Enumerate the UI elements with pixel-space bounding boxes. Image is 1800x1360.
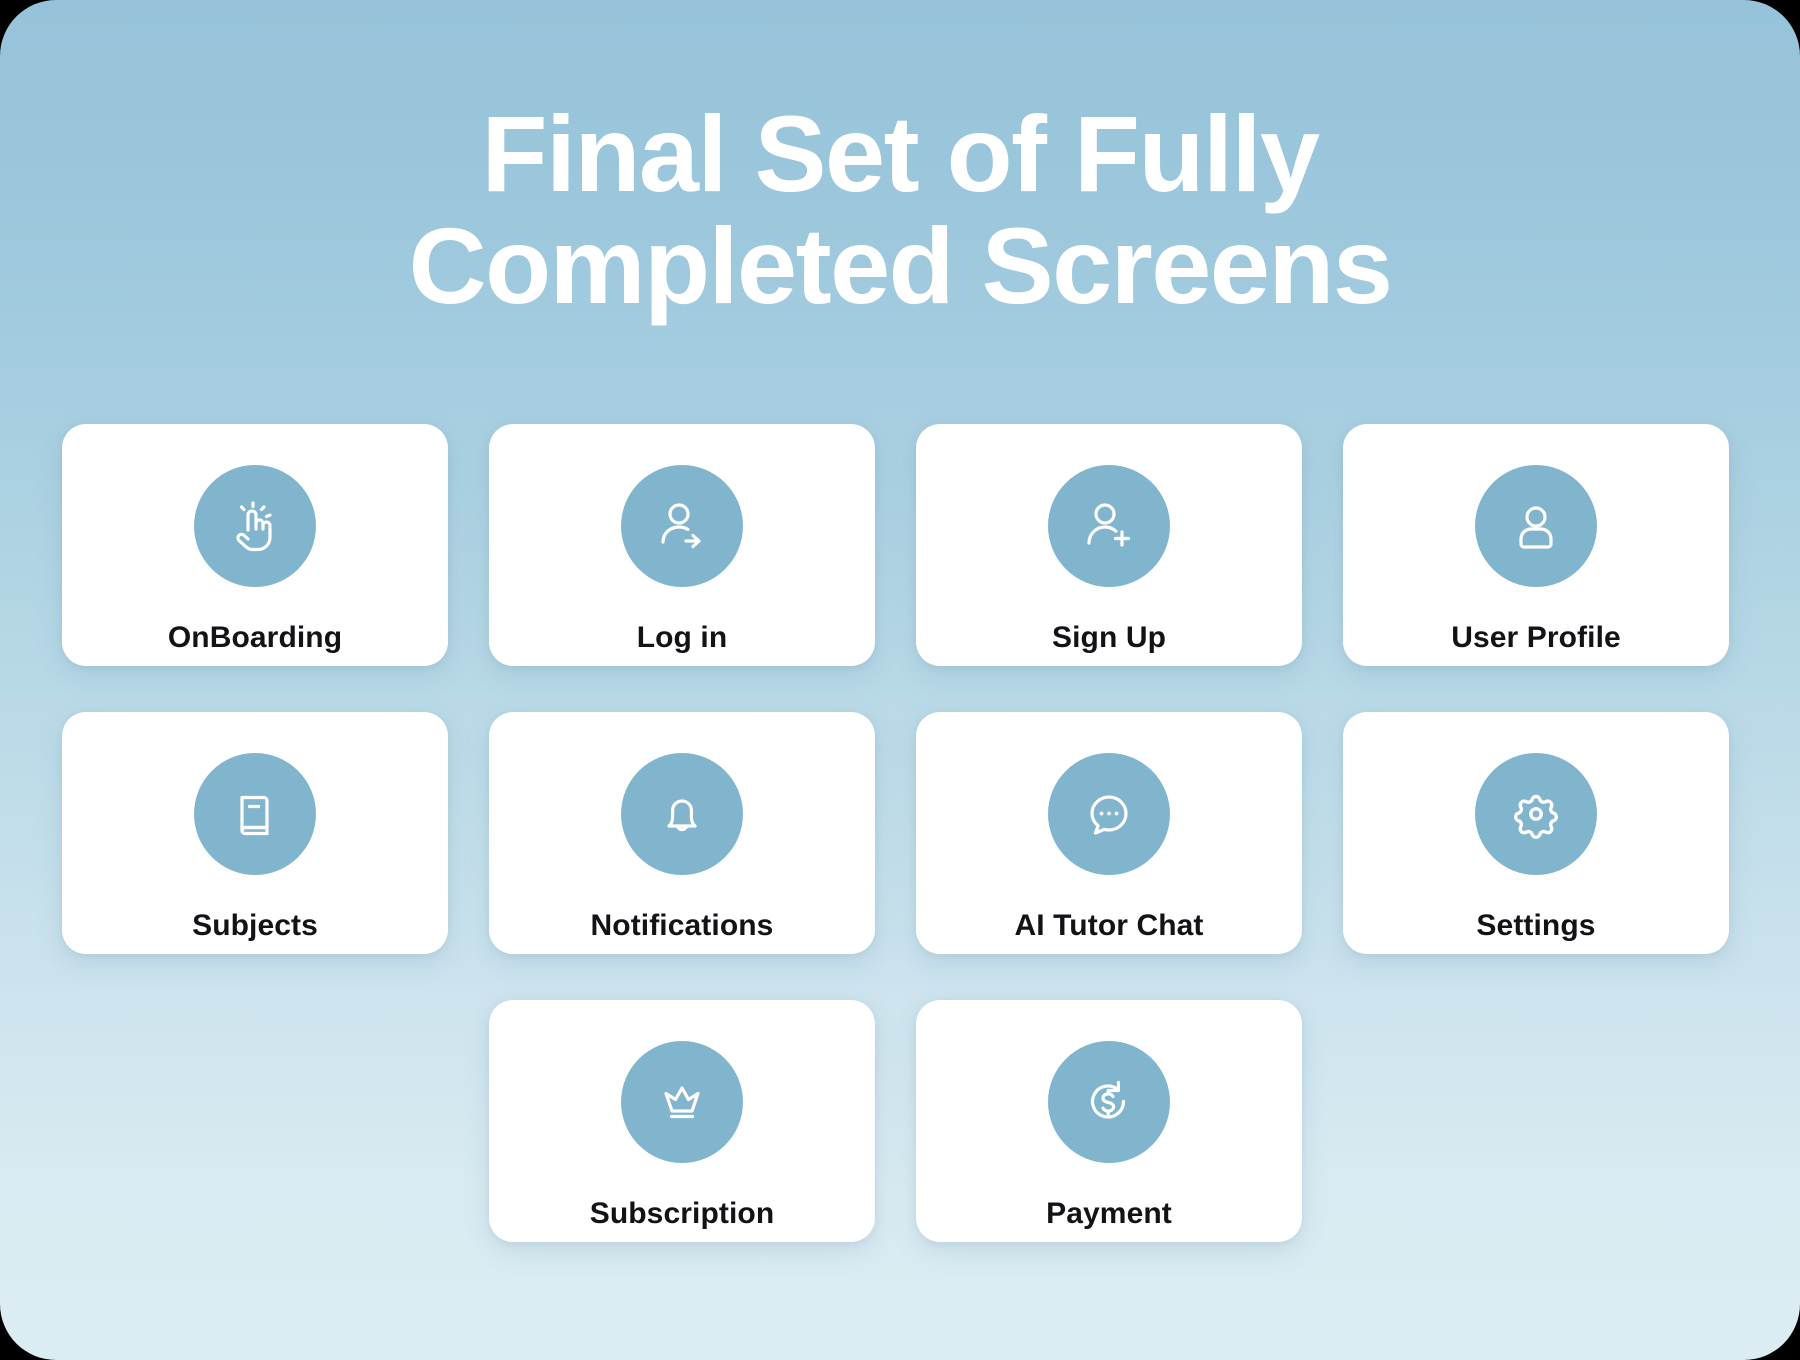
card-row-1: OnBoarding Log in [62,424,1738,666]
card-payment[interactable]: Payment [916,1000,1302,1242]
card-row-3: Subscription Payment [62,1000,1738,1242]
page-title-line-1: Final Set of Fully [180,98,1620,210]
card-label: User Profile [1451,621,1621,655]
app-screen: Final Set of Fully Completed Screens [0,0,1800,1360]
card-label: Sign Up [1052,621,1166,655]
card-notifications[interactable]: Notifications [489,712,875,954]
card-label: OnBoarding [168,621,342,655]
card-label: Subscription [590,1197,775,1231]
page-title-line-2: Completed Screens [180,210,1620,322]
bell-icon [621,753,743,875]
gear-icon [1475,753,1597,875]
card-ai-tutor-chat[interactable]: AI Tutor Chat [916,712,1302,954]
card-subscription[interactable]: Subscription [489,1000,875,1242]
user-plus-icon [1048,465,1170,587]
book-icon [194,753,316,875]
dollar-refresh-icon [1048,1041,1170,1163]
card-row-2: Subjects Notifications [62,712,1738,954]
card-label: Log in [637,621,728,655]
card-settings[interactable]: Settings [1343,712,1729,954]
user-arrow-right-icon [621,465,743,587]
card-user-profile[interactable]: User Profile [1343,424,1729,666]
chat-bubble-dots-icon [1048,753,1170,875]
card-onboarding[interactable]: OnBoarding [62,424,448,666]
user-bust-icon [1475,465,1597,587]
card-label: Settings [1476,909,1595,943]
card-log-in[interactable]: Log in [489,424,875,666]
card-label: Payment [1046,1197,1172,1231]
card-label: AI Tutor Chat [1014,909,1203,943]
card-sign-up[interactable]: Sign Up [916,424,1302,666]
tap-hand-icon [194,465,316,587]
card-subjects[interactable]: Subjects [62,712,448,954]
screen-card-grid: OnBoarding Log in [62,424,1738,1242]
card-label: Subjects [192,909,318,943]
page-title: Final Set of Fully Completed Screens [0,0,1800,323]
card-label: Notifications [591,909,774,943]
crown-icon [621,1041,743,1163]
